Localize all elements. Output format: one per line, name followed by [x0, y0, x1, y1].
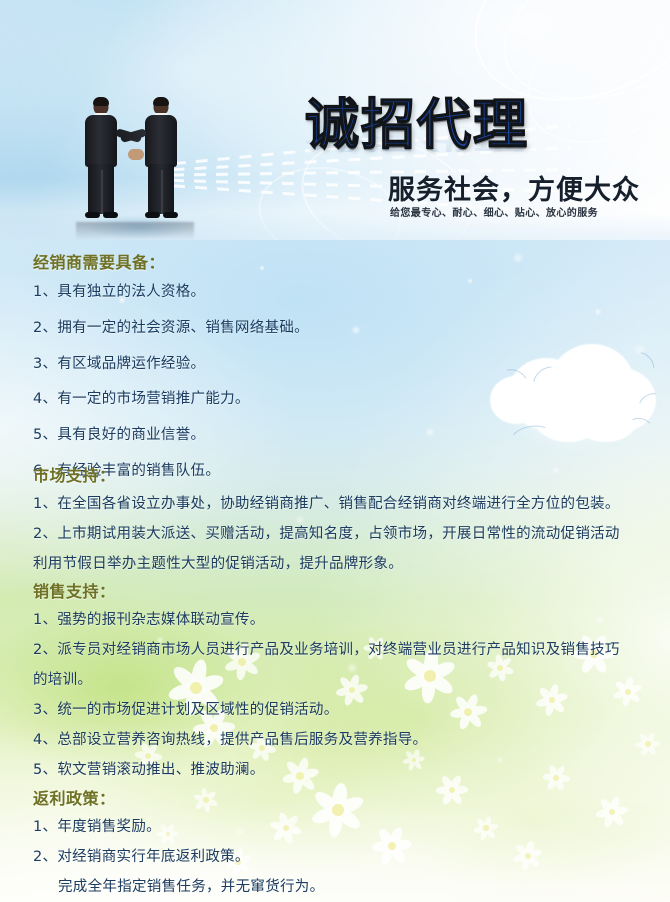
section-line: 3、统一的市场促进计划及区域性的促销活动。	[33, 703, 339, 718]
section-line: 3、有区域品牌运作经验。	[33, 357, 205, 372]
promo-poster: 诚招代理 诚招代理 服务社会，方便大众 给您最专心、耐心、细心、贴心、放心的服务…	[0, 0, 670, 902]
section-heading: 市场支持：	[33, 462, 116, 486]
section-line: 1、在全国各省设立办事处，协助经销商推广、销售配合经销商对终端进行全方位的包装。	[33, 497, 620, 512]
section-line: 2、拥有一定的社会资源、销售网络基础。	[33, 321, 309, 336]
section-line: 的培训。	[33, 673, 92, 688]
banner-subtitle: 服务社会，方便大众	[388, 177, 640, 204]
section-line: 4、有一定的市场营销推广能力。	[33, 392, 250, 407]
businessman-left	[78, 98, 124, 226]
section-heading: 经销商需要具备：	[33, 249, 165, 273]
businessman-right	[138, 98, 184, 226]
section-line: 4、总部设立营养咨询热线，提供产品售后服务及营养指导。	[33, 733, 427, 748]
section-line: 利用节假日举办主题性大型的促销活动，提升品牌形象。	[33, 557, 403, 572]
handshake-hands	[128, 149, 144, 160]
hero-banner: 诚招代理 诚招代理 服务社会，方便大众 给您最专心、耐心、细心、贴心、放心的服务	[0, 0, 670, 240]
section-line: 5、软文营销滚动推出、推波助澜。	[33, 763, 265, 778]
banner-title: 诚招代理	[305, 98, 529, 152]
section-line: 2、上市期试用装大派送、买赠活动，提高知名度，占领市场，开展日常性的流动促销活动	[33, 527, 620, 542]
section-line: 1、年度销售奖励。	[33, 820, 161, 835]
banner-tagline: 给您最专心、耐心、细心、贴心、放心的服务	[390, 209, 598, 219]
section-line: 2、派专员对经销商市场人员进行产品及业务培训，对终端营业员进行产品知识及销售技巧	[33, 643, 620, 658]
section-line: 5、具有良好的商业信誉。	[33, 428, 205, 443]
photo-floor-reflection	[76, 222, 194, 240]
handshake-photo	[72, 92, 202, 240]
section-heading: 销售支持：	[33, 578, 116, 602]
content-body: 经销商需要具备：1、具有独立的法人资格。2、拥有一定的社会资源、销售网络基础。3…	[0, 240, 670, 902]
section-heading: 返利政策：	[33, 785, 116, 809]
section-line: 1、强势的报刊杂志媒体联动宣传。	[33, 613, 265, 628]
section-line: 1、具有独立的法人资格。	[33, 285, 205, 300]
section-line: 2、对经销商实行年底返利政策。	[33, 850, 250, 865]
section-line: 完成全年指定销售任务，并无窜货行为。	[58, 880, 324, 895]
